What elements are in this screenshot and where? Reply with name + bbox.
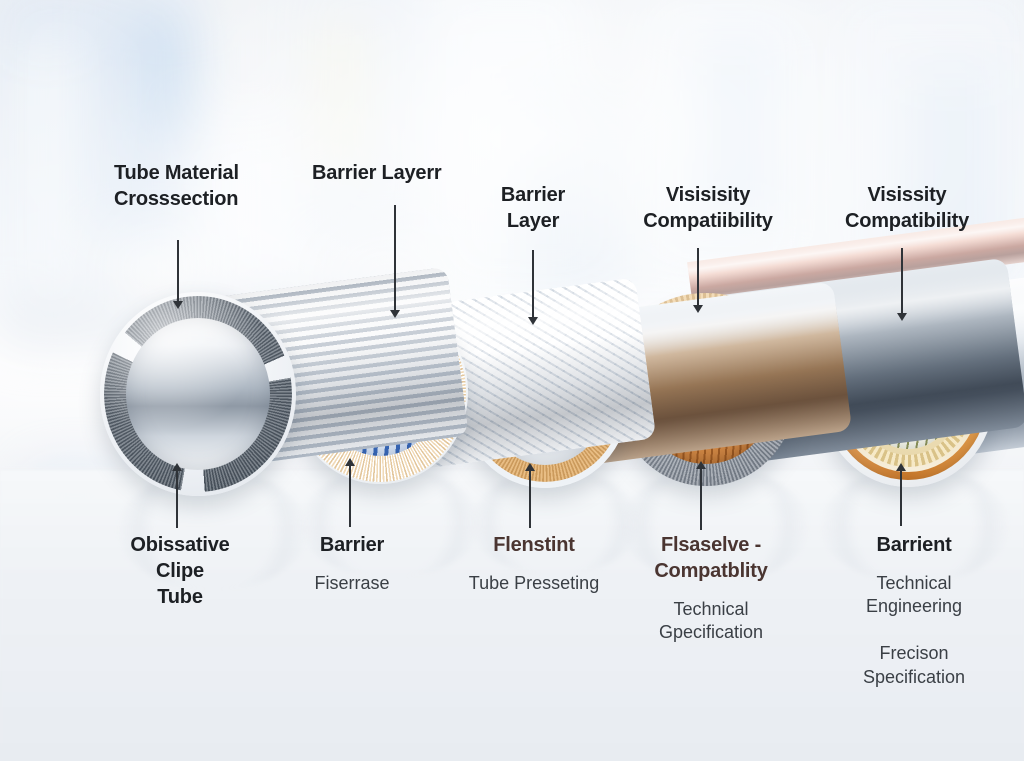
bottom-label-1: Obissative Clipe Tube (92, 532, 268, 624)
bottom-label-2-subtitle: Fiserrase (272, 572, 432, 595)
bottom-label-2-title: Barrier (272, 532, 432, 558)
bottom-label-1-title: Obissative Clipe Tube (92, 532, 268, 610)
leader-line-top-4 (697, 248, 699, 306)
tube-crosssection-figure: Tube Material Crosssection Barrier Layer… (0, 0, 1024, 761)
face-highlight (100, 292, 296, 496)
top-label-3: Barrier Layer (462, 182, 604, 234)
bottom-label-4-title: Flsaselve - Compatblity (620, 532, 802, 584)
leader-line-top-5 (901, 248, 903, 314)
bottom-label-3-subtitle: Tube Presseting (450, 572, 618, 595)
bottom-label-5-title: Barrient (828, 532, 1000, 558)
leader-line-bottom-1 (176, 470, 178, 528)
leader-line-top-2 (394, 205, 396, 311)
bottom-label-3-title: Flenstint (450, 532, 618, 558)
top-label-4-title: Visisisity Compatiibility (612, 182, 804, 234)
tube-face-grey (100, 292, 296, 496)
top-label-3-title: Barrier Layer (462, 182, 604, 234)
bottom-label-4-subtitle: Technical Gpecification (620, 598, 802, 645)
top-label-5-title: Visissity Compatibility (812, 182, 1002, 234)
leader-line-top-1 (177, 240, 179, 302)
leader-line-top-3 (532, 250, 534, 318)
top-label-1: Tube Material Crosssection (114, 160, 344, 212)
bottom-label-5-subtitle: Technical Engineering Frecison Specifica… (828, 572, 1000, 689)
leader-line-bottom-5 (900, 470, 902, 526)
bottom-label-4: Flsaselve - Compatblity Technical Gpecif… (620, 532, 802, 645)
bottom-label-2: Barrier Fiserrase (272, 532, 432, 595)
bottom-label-5: Barrient Technical Engineering Frecison … (828, 532, 1000, 689)
leader-line-bottom-3 (529, 470, 531, 528)
top-label-4: Visisisity Compatiibility (612, 182, 804, 234)
top-label-5: Visissity Compatibility (812, 182, 1002, 234)
leader-line-bottom-4 (700, 468, 702, 530)
top-label-1-title: Tube Material Crosssection (114, 160, 344, 212)
leader-line-bottom-2 (349, 465, 351, 527)
bottom-label-3: Flenstint Tube Presseting (450, 532, 618, 595)
